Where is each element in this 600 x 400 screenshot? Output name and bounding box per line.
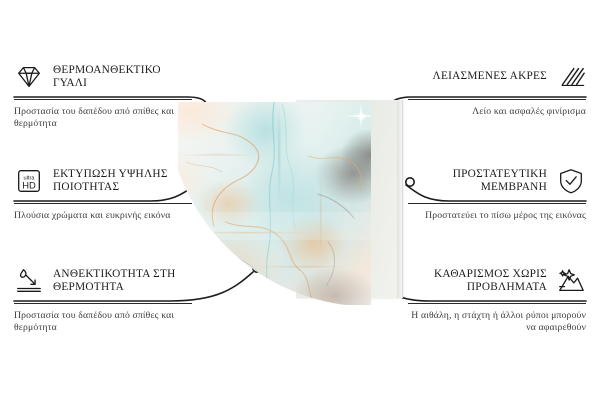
feature-title: ΕΚΤΥΠΩΣΗ ΥΨΗΛΗΣ ΠΟΙΟΤΗΤΑΣ [53,168,192,194]
infographic-canvas: ΘΕΡΜΟΑΝΘΕΚΤΙΚΟ ΓΥΑΛΙ Προστασία του δαπέδ… [0,0,600,400]
feature-title: ΠΡΟΣΤΑΤΕΥΤΙΚΗ ΜΕΜΒΡΑΝΗ [408,168,547,194]
sparkle-cloth-icon [556,266,586,296]
flame-deflect-icon [14,266,44,296]
feature-divider [14,99,192,100]
feature-description: Προστατεύει το πίσω μέρος της εικόνας [408,210,586,222]
ultra-hd-icon-bottom-label: HD [22,181,36,191]
diamond-icon [14,62,44,92]
feature-header: ΘΕΡΜΟΑΝΘΕΚΤΙΚΟ ΓΥΑΛΙ [14,62,192,92]
feature-divider [14,303,192,304]
feature-title: ΛΕΙΑΣΜΕΝΕΣ ΑΚΡΕΣ [433,70,547,83]
feature-divider [408,99,586,100]
feature-title: ΘΕΡΜΟΑΝΘΕΚΤΙΚΟ ΓΥΑΛΙ [53,64,192,90]
feature-smooth-edges: ΛΕΙΑΣΜΕΝΕΣ ΑΚΡΕΣ Λείο και ασφαλές φινίρι… [408,62,586,118]
feature-header: ΑΝΘΕΚΤΙΚΟΤΗΤΑ ΣΤΗ ΘΕΡΜΟΤΗΤΑ [14,266,192,296]
feature-heatproof-glass: ΘΕΡΜΟΑΝΘΕΚΤΙΚΟ ΓΥΑΛΙ Προστασία του δαπέδ… [14,62,192,130]
glass-panel [178,102,371,305]
feature-heat-resistance: ΑΝΘΕΚΤΙΚΟΤΗΤΑ ΣΤΗ ΘΕΡΜΟΤΗΤΑ Προστασία το… [14,266,192,334]
ultra-hd-icon: ultra HD [14,166,44,196]
feature-divider [408,203,586,204]
feature-hd-print: ultra HD ΕΚΤΥΠΩΣΗ ΥΨΗΛΗΣ ΠΟΙΟΤΗΤΑΣ Πλούσ… [14,166,192,222]
feature-description: Προστασία του δαπέδου από σπίθες και θερ… [14,310,192,334]
feature-description: Η αιθάλη, η στάχτη ή άλλοι ρύποι μπορούν… [408,310,586,334]
feature-description: Λείο και ασφαλές φινίρισμα [408,106,586,118]
feature-divider [14,203,192,204]
panel-edge [397,102,402,298]
feature-easy-cleaning: ΚΑΘΑΡΙΣΜΟΣ ΧΩΡΙΣ ΠΡΟΒΛΗΜΑΤΑ Η αιθάλη, η … [408,266,586,334]
feature-description: Προστασία του δαπέδου από σπίθες και θερ… [14,106,192,130]
shield-check-icon [556,166,586,196]
marble-veins [178,102,371,305]
product-image [178,100,403,315]
feature-description: Πλούσια χρώματα και ευκρινής εικόνα [14,210,192,222]
feature-protective-film: ΠΡΟΣΤΑΤΕΥΤΙΚΗ ΜΕΜΒΡΑΝΗ Προστατεύει το πί… [408,166,586,222]
feature-header: ΚΑΘΑΡΙΣΜΟΣ ΧΩΡΙΣ ΠΡΟΒΛΗΜΑΤΑ [408,266,586,296]
feature-header: ΛΕΙΑΣΜΕΝΕΣ ΑΚΡΕΣ [408,62,586,92]
feature-header: ultra HD ΕΚΤΥΠΩΣΗ ΥΨΗΛΗΣ ΠΟΙΟΤΗΤΑΣ [14,166,192,196]
diagonal-stripes-icon [556,62,586,92]
feature-title: ΑΝΘΕΚΤΙΚΟΤΗΤΑ ΣΤΗ ΘΕΡΜΟΤΗΤΑ [53,268,192,294]
feature-header: ΠΡΟΣΤΑΤΕΥΤΙΚΗ ΜΕΜΒΡΑΝΗ [408,166,586,196]
feature-title: ΚΑΘΑΡΙΣΜΟΣ ΧΩΡΙΣ ΠΡΟΒΛΗΜΑΤΑ [408,268,547,294]
feature-divider [408,303,586,304]
